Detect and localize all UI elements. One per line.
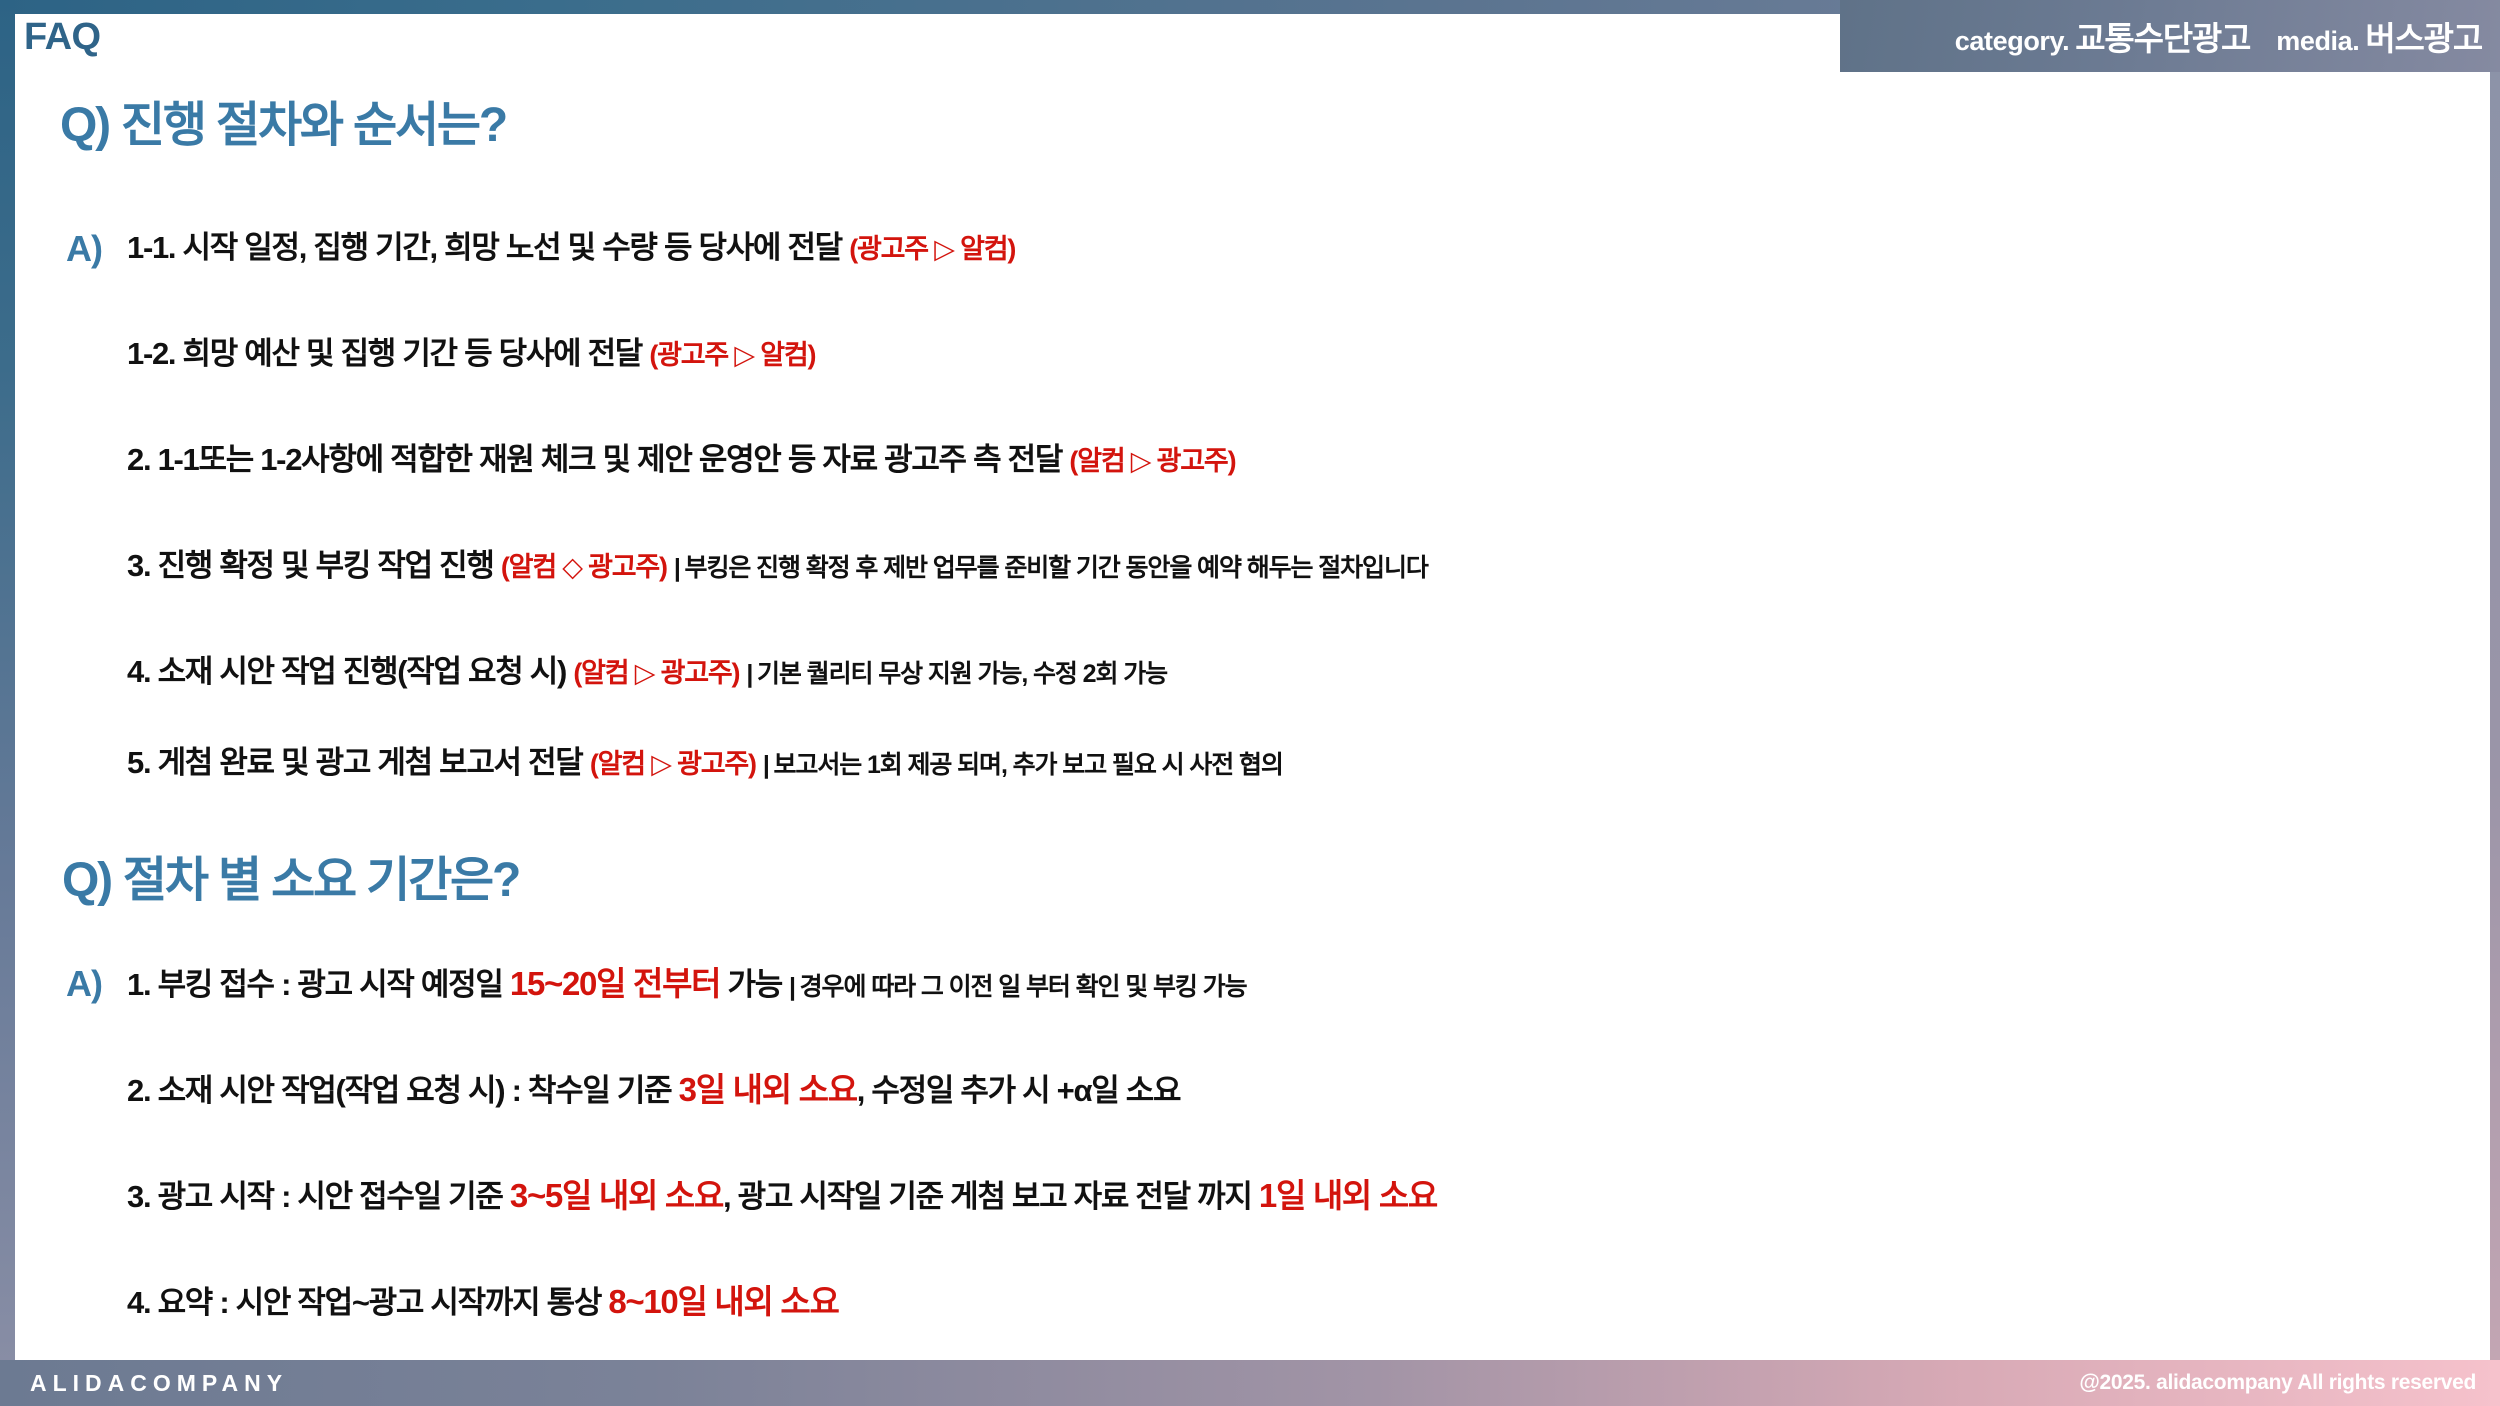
left-frame-bar xyxy=(0,0,15,1406)
line-note: 기본 퀄리티 무상 지원 가능, 수정 2회 가능 xyxy=(757,660,1167,688)
line-main: 2. 1-1또는 1-2사항에 적합한 재원 체크 및 제안 운영안 등 자료 … xyxy=(127,442,1062,477)
answer-label-2: A) xyxy=(66,963,102,1005)
q-text-2: 절차 별 소요 기간은? xyxy=(123,854,519,907)
answer-line-1-4: 3. 진행 확정 및 부킹 작업 진행 (알컴 ◇ 광고주)|부킹은 진행 확정… xyxy=(127,550,1428,581)
line-main: 3. 진행 확정 및 부킹 작업 진행 xyxy=(127,548,494,583)
answer-line-2-4: 4. 요약 : 시안 작업~광고 시작까지 통상 8~10일 내외 소요 xyxy=(127,1285,839,1318)
answer-line-1-2: 1-2. 희망 예산 및 집행 기간 등 당사에 전달 (광고주 ▷ 알컴) xyxy=(127,338,815,369)
footer-copyright: @2025. alidacompany All rights reserved xyxy=(2079,1371,2476,1395)
line-paren: (알컴 ▷ 광고주) xyxy=(1069,446,1235,476)
right-frame-bar xyxy=(2490,0,2500,1406)
line-separator: | xyxy=(746,660,752,688)
line-note: 부킹은 진행 확정 후 제반 업무를 준비할 기간 동안을 예약 해두는 절차입… xyxy=(685,554,1428,582)
line-main: 1-2. 희망 예산 및 집행 기간 등 당사에 전달 xyxy=(127,336,642,371)
line-paren: (광고주 ▷ 알컴) xyxy=(649,340,815,370)
answer-line-1-6: 5. 게첨 완료 및 광고 게첨 보고서 전달 (알컴 ▷ 광고주)|보고서는 … xyxy=(127,747,1283,778)
footer-brand: ALIDACOMPANY xyxy=(30,1370,288,1397)
line-paren: (알컴 ▷ 광고주) xyxy=(573,658,739,688)
category-media-banner: category. 교통수단광고 media. 버스광고 xyxy=(1840,0,2500,72)
q-mark-2: Q) xyxy=(62,854,111,907)
line-post: , 수정일 추가 시 +α일 소요 xyxy=(857,1073,1180,1108)
category-value: 교통수단광고 xyxy=(2075,12,2250,60)
faq-slide: category. 교통수단광고 media. 버스광고 FAQ Q)진행 절차… xyxy=(0,0,2500,1406)
media-group: media. 버스광고 xyxy=(2276,12,2482,60)
line-main: 5. 게첨 완료 및 광고 게첨 보고서 전달 xyxy=(127,745,583,780)
line-pre: 2. 소재 시안 작업(작업 요청 시) : 착수일 기준 xyxy=(127,1073,679,1108)
line-note: 보고서는 1회 제공 되며, 추가 보고 필요 시 사전 협의 xyxy=(774,751,1283,779)
line-separator: | xyxy=(674,554,680,582)
answer-line-1-1: 1-1. 시작 일정, 집행 기간, 희망 노선 및 수량 등 당사에 전달 (… xyxy=(127,232,1015,263)
line-post: 가능 xyxy=(720,967,782,1002)
answer-line-2-3: 3. 광고 시작 : 시안 접수일 기준 3~5일 내외 소요, 광고 시작일 … xyxy=(127,1179,1437,1212)
line-red: 3일 내외 소요 xyxy=(679,1071,857,1108)
line-separator: | xyxy=(763,751,769,779)
line-red: 15~20일 전부터 xyxy=(510,965,720,1002)
answer-line-1-5: 4. 소재 시안 작업 진행(작업 요청 시) (알컴 ▷ 광고주)|기본 퀄리… xyxy=(127,656,1167,687)
q-text-1: 진행 절차와 순서는? xyxy=(121,99,506,152)
q-mark-1: Q) xyxy=(60,99,109,152)
answer-line-2-1: 1. 부킹 접수 : 광고 시작 예정일 15~20일 전부터 가능|경우에 따… xyxy=(127,967,1246,1000)
answer-line-2-2: 2. 소재 시안 작업(작업 요청 시) : 착수일 기준 3일 내외 소요, … xyxy=(127,1073,1180,1106)
line-pre: 4. 요약 : 시안 작업~광고 시작까지 통상 xyxy=(127,1285,608,1320)
answer-label-1: A) xyxy=(66,228,102,270)
line-separator: | xyxy=(789,973,795,1001)
category-label: category. xyxy=(1955,26,2069,57)
question-heading-1: Q)진행 절차와 순서는? xyxy=(60,85,506,155)
question-heading-2: Q)절차 별 소요 기간은? xyxy=(62,840,519,910)
faq-title: FAQ xyxy=(24,16,101,59)
line-note: 경우에 따라 그 이전 일 부터 확인 및 부킹 가능 xyxy=(800,973,1247,1001)
line-main: 1-1. 시작 일정, 집행 기간, 희망 노선 및 수량 등 당사에 전달 xyxy=(127,230,842,265)
slide-footer: ALIDACOMPANY @2025. alidacompany All rig… xyxy=(0,1360,2500,1406)
line-post: , 광고 시작일 기준 게첨 보고 자료 전달 까지 xyxy=(723,1179,1259,1214)
line-red-2: 1일 내외 소요 xyxy=(1259,1177,1437,1214)
line-paren: (알컴 ▷ 광고주) xyxy=(590,749,756,779)
media-value: 버스광고 xyxy=(2365,12,2482,60)
line-paren: (알컴 ◇ 광고주) xyxy=(501,552,667,582)
category-group: category. 교통수단광고 xyxy=(1955,12,2250,60)
line-pre: 3. 광고 시작 : 시안 접수일 기준 xyxy=(127,1179,510,1214)
media-label: media. xyxy=(2276,26,2359,57)
line-pre: 1. 부킹 접수 : 광고 시작 예정일 xyxy=(127,967,510,1002)
line-main: 4. 소재 시안 작업 진행(작업 요청 시) xyxy=(127,654,566,689)
line-red: 3~5일 내외 소요 xyxy=(510,1177,723,1214)
answer-line-1-3: 2. 1-1또는 1-2사항에 적합한 재원 체크 및 제안 운영안 등 자료 … xyxy=(127,444,1235,475)
line-paren: (광고주 ▷ 알컴) xyxy=(849,234,1015,264)
line-red: 8~10일 내외 소요 xyxy=(608,1283,838,1320)
